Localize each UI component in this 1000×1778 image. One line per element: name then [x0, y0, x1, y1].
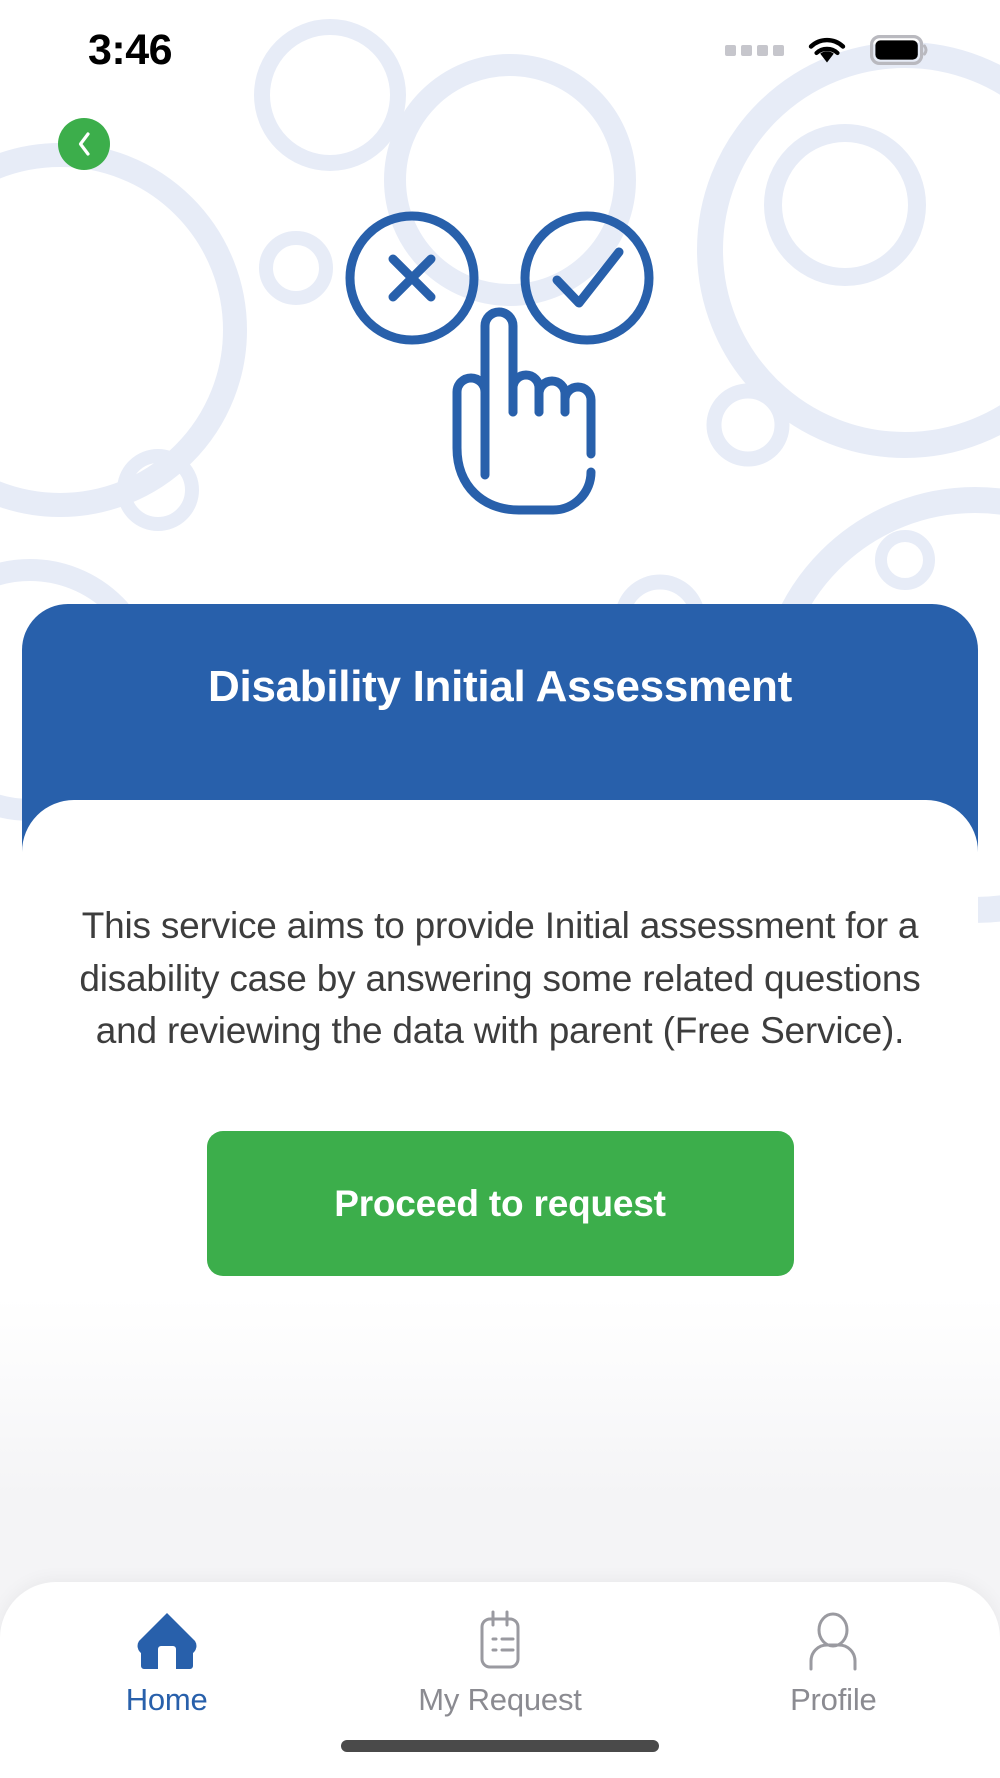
- proceed-to-request-button[interactable]: Proceed to request: [207, 1131, 794, 1276]
- status-time: 3:46: [88, 26, 172, 75]
- tab-label-profile: Profile: [790, 1682, 876, 1718]
- clipboard-list-icon: [469, 1608, 531, 1674]
- app-screen: 3:46: [0, 0, 1000, 1778]
- tab-my-request[interactable]: My Request: [333, 1608, 666, 1718]
- home-indicator[interactable]: [341, 1740, 659, 1752]
- signal-dots-icon: [725, 45, 784, 56]
- hand-pointing-choice-icon: [335, 200, 665, 530]
- hero-illustration: [0, 185, 1000, 545]
- cta-container: Proceed to request: [0, 1131, 1000, 1276]
- status-indicators: [725, 35, 928, 65]
- page-title: Disability Initial Assessment: [22, 662, 978, 712]
- chevron-left-icon: [74, 129, 94, 159]
- tab-label-my-request: My Request: [418, 1682, 581, 1718]
- wifi-icon: [806, 35, 848, 65]
- user-icon: [802, 1608, 864, 1674]
- tab-label-home: Home: [126, 1682, 208, 1718]
- service-description: This service aims to provide Initial ass…: [22, 900, 978, 1058]
- tab-profile[interactable]: Profile: [667, 1608, 1000, 1718]
- status-bar: 3:46: [0, 0, 1000, 100]
- tab-home[interactable]: Home: [0, 1608, 333, 1718]
- back-button[interactable]: [58, 118, 110, 170]
- battery-full-icon: [870, 35, 928, 65]
- home-icon: [135, 1608, 199, 1674]
